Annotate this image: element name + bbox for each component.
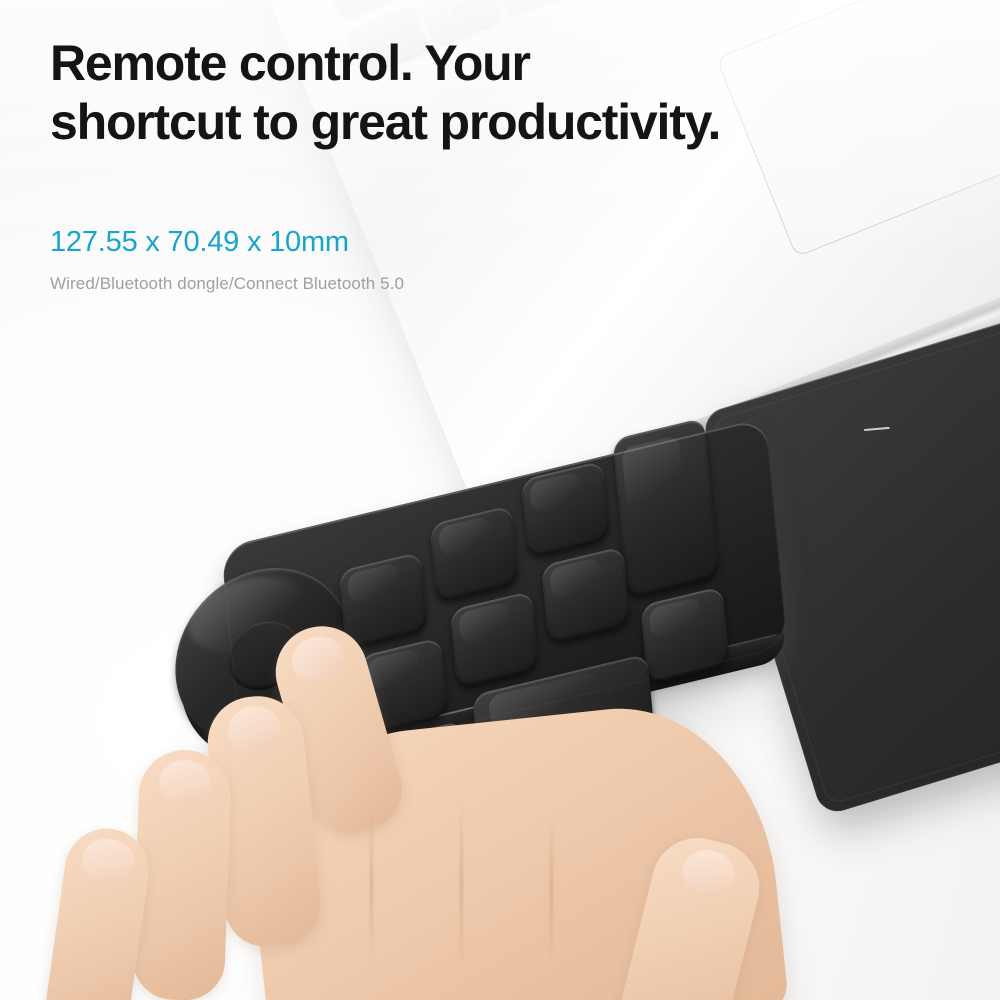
laptop-key-label: ctrl	[425, 0, 494, 28]
laptop-key	[490, 0, 574, 17]
headline-line-2: shortcut to great productivity.	[50, 93, 950, 152]
finger-web-shade	[460, 800, 463, 970]
middle-finger-nail	[226, 704, 282, 753]
little-finger-nail	[79, 835, 137, 886]
page-title: Remote control. Your shortcut to great p…	[50, 34, 950, 152]
headline-line-1: Remote control. Your	[50, 34, 950, 93]
finger-web-shade	[550, 815, 553, 965]
headline-block: Remote control. Your shortcut to great p…	[50, 34, 950, 152]
user-hand	[40, 600, 800, 1000]
product-marketing-image: escdelF8ctrl Remote	[0, 0, 1000, 1000]
ring-finger-nail	[158, 759, 212, 805]
dimensions-text: 127.55 x 70.49 x 10mm	[50, 226, 349, 259]
connectivity-text: Wired/Bluetooth dongle/Connect Bluetooth…	[50, 274, 404, 294]
thumb-nail	[678, 845, 739, 900]
finger-web-shade	[370, 810, 373, 960]
index-finger-nail	[287, 631, 349, 688]
laptop-key-label: del	[331, 0, 393, 3]
